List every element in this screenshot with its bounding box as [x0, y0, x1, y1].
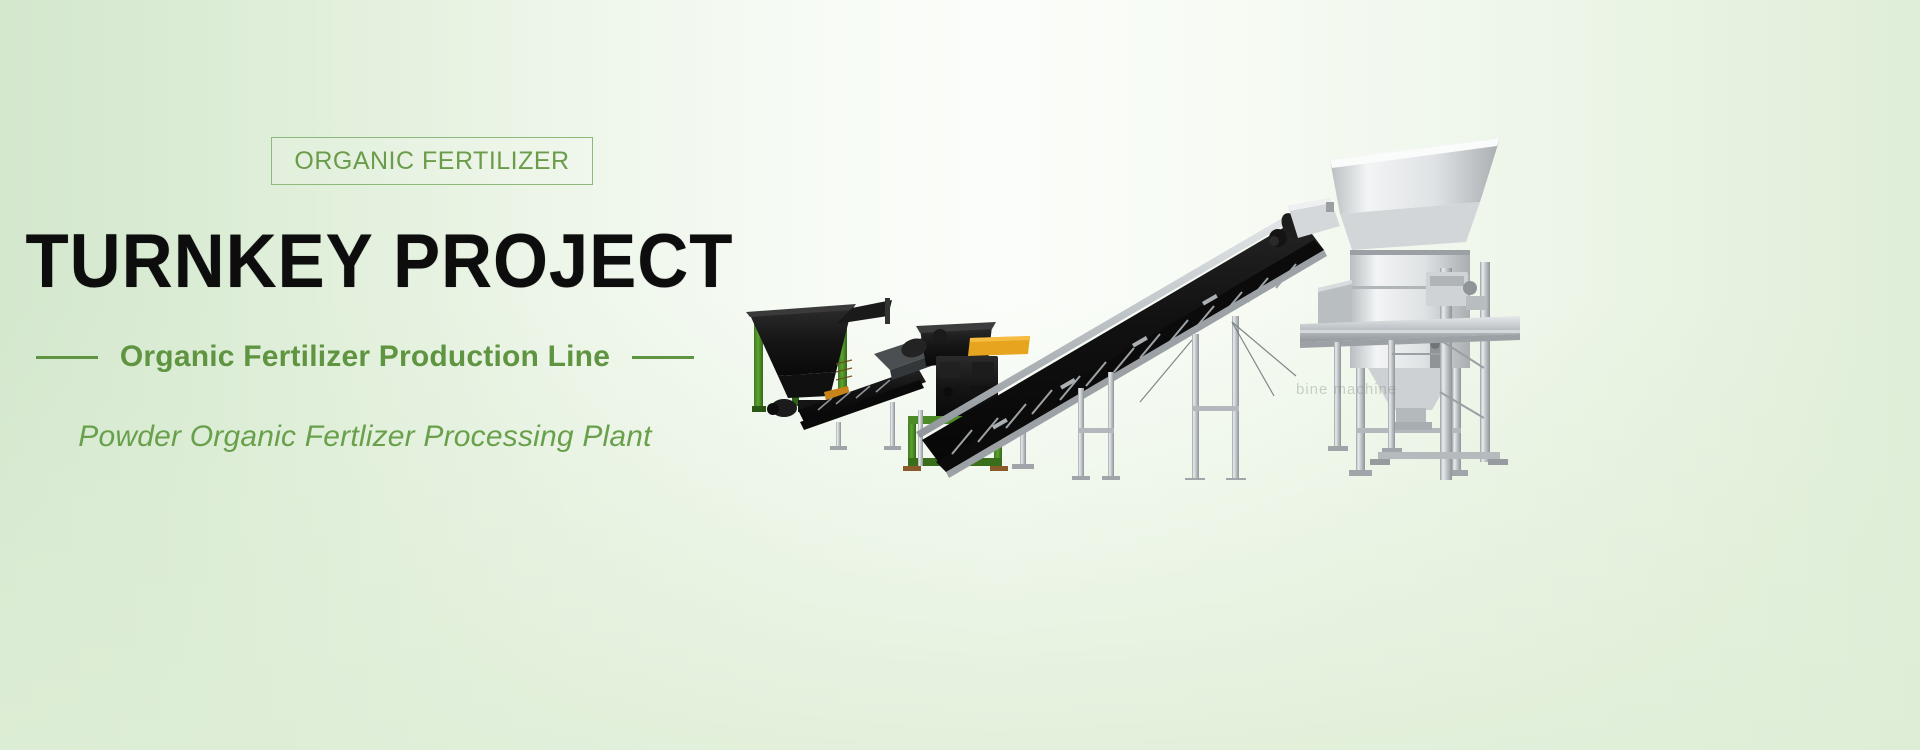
- subtitle-row: Organic Fertilizer Production Line: [0, 340, 730, 374]
- banner-text-block: ORGANIC FERTILIZER TURNKEY PROJECT Organ…: [0, 0, 760, 750]
- tagline-label: Powder Organic Fertlizer Processing Plan…: [0, 420, 730, 454]
- machinery-illustration: [740, 110, 1520, 480]
- subtitle-dash-left: [36, 356, 98, 359]
- banner-root: ORGANIC FERTILIZER TURNKEY PROJECT Organ…: [0, 0, 1920, 750]
- eyebrow-badge: ORGANIC FERTILIZER: [271, 137, 593, 185]
- subtitle-label: Organic Fertilizer Production Line: [120, 340, 610, 374]
- eyebrow-label: ORGANIC FERTILIZER: [294, 147, 569, 176]
- page-title: TURNKEY PROJECT: [26, 222, 705, 302]
- subtitle-dash-right: [632, 356, 694, 359]
